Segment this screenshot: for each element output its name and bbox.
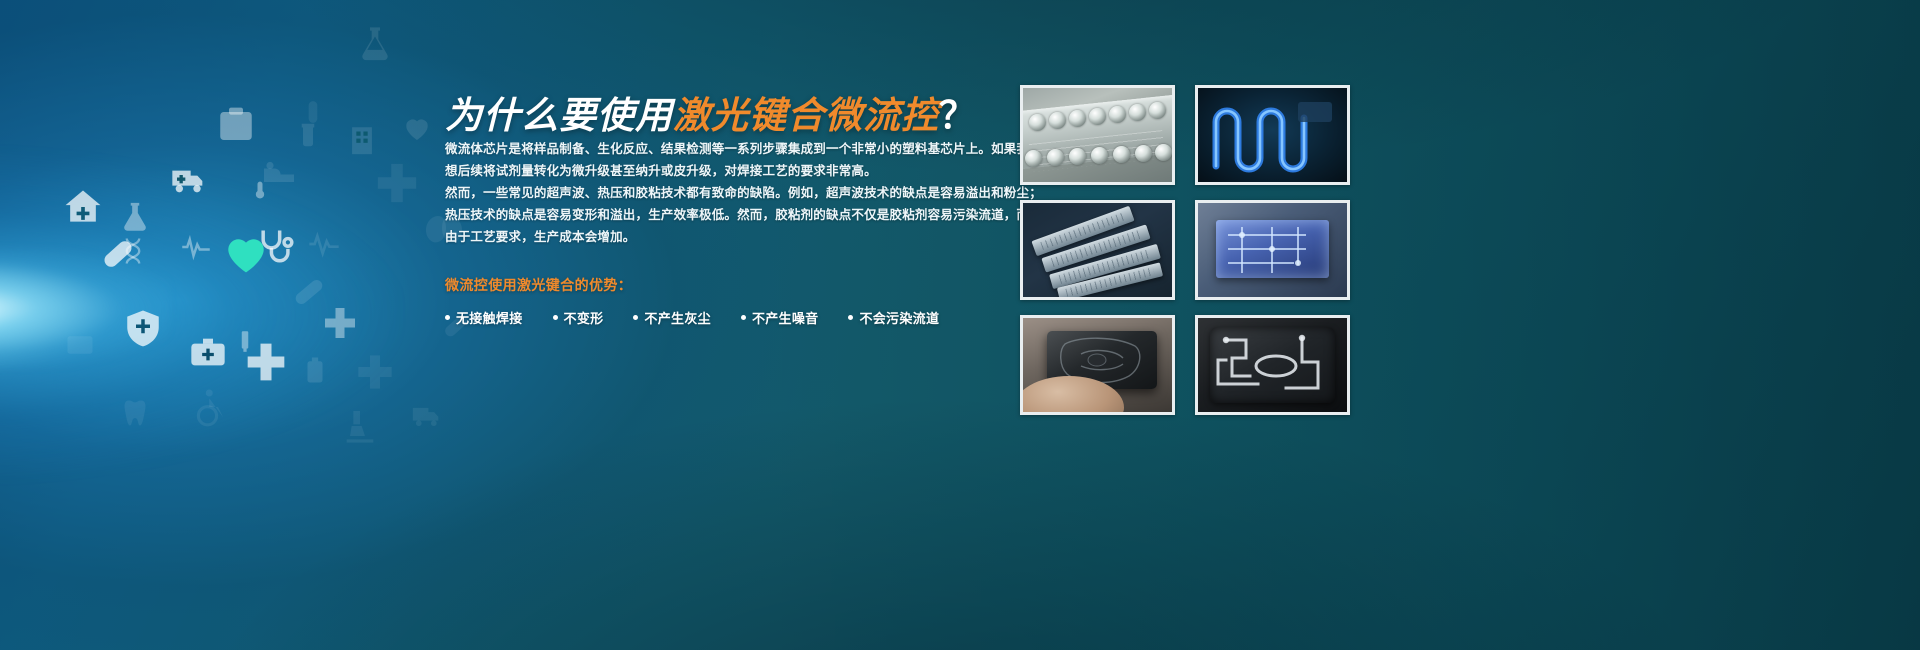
body-line-5: 由于工艺要求，生产成本会增加。 <box>445 226 975 248</box>
title-lead: 为什么要使用 <box>445 95 673 136</box>
list-item: 不变形 <box>553 308 604 327</box>
bullet-dot-icon <box>848 315 853 320</box>
body-line-1: 微流体芯片是将样品制备、生化反应、结果检测等一系列步骤集成到一个非常小的塑料基芯… <box>445 138 975 160</box>
banner-stage: 为什么要使用激光键合微流控？ 微流体芯片是将样品制备、生化反应、结果检测等一系列… <box>0 0 1920 650</box>
photo-black-card-chip <box>1195 315 1350 415</box>
title-question-mark: ？ <box>939 95 977 136</box>
bullet-dot-icon <box>633 315 638 320</box>
body-line-4: 热压技术的缺点是容易变形和溢出，生产效率极低。然而，胶粘剂的缺点不仅是胶粘剂容易… <box>445 204 975 226</box>
list-item: 不产生灰尘 <box>633 308 711 327</box>
photo-blue-manifold-block <box>1195 200 1350 300</box>
bullet-dot-icon <box>445 315 450 320</box>
bullet-dot-icon <box>553 315 558 320</box>
body-line-2: 想后续将试剂量转化为微升级甚至纳升或皮升级，对焊接工艺的要求非常高。 <box>445 160 975 182</box>
banner-content: 为什么要使用激光键合微流控？ 微流体芯片是将样品制备、生化反应、结果检测等一系列… <box>0 0 1920 650</box>
photo-black-flexible-chip-in-hand <box>1020 315 1175 415</box>
advantages-heading: 微流控使用激光键合的优势： <box>445 275 632 295</box>
photo-microfluidic-chip-wells <box>1020 85 1175 185</box>
advantage-label: 不变形 <box>564 308 604 327</box>
body-line-3: 然而，一些常见的超声波、热压和胶粘技术都有致命的缺陷。例如，超声波技术的缺点是容… <box>445 182 975 204</box>
photo-glowing-serpentine-channel <box>1195 85 1350 185</box>
advantage-label: 不会污染流道 <box>859 308 939 327</box>
bullet-dot-icon <box>741 315 746 320</box>
list-item: 不产生噪音 <box>741 308 819 327</box>
advantages-list: 无接触焊接 不变形 不产生灰尘 不产生噪音 不会污染流道 <box>445 308 939 327</box>
list-item: 无接触焊接 <box>445 308 523 327</box>
body-paragraphs: 微流体芯片是将样品制备、生化反应、结果检测等一系列步骤集成到一个非常小的塑料基芯… <box>445 138 975 248</box>
photo-clear-microfluidic-slides <box>1020 200 1175 300</box>
title-highlight: 激光键合微流控 <box>673 95 939 136</box>
product-photo-grid <box>1020 85 1350 416</box>
list-item: 不会污染流道 <box>848 308 939 327</box>
page-title: 为什么要使用激光键合微流控？ <box>445 85 977 139</box>
advantage-label: 不产生灰尘 <box>644 308 711 327</box>
advantage-label: 无接触焊接 <box>456 308 523 327</box>
advantage-label: 不产生噪音 <box>752 308 819 327</box>
